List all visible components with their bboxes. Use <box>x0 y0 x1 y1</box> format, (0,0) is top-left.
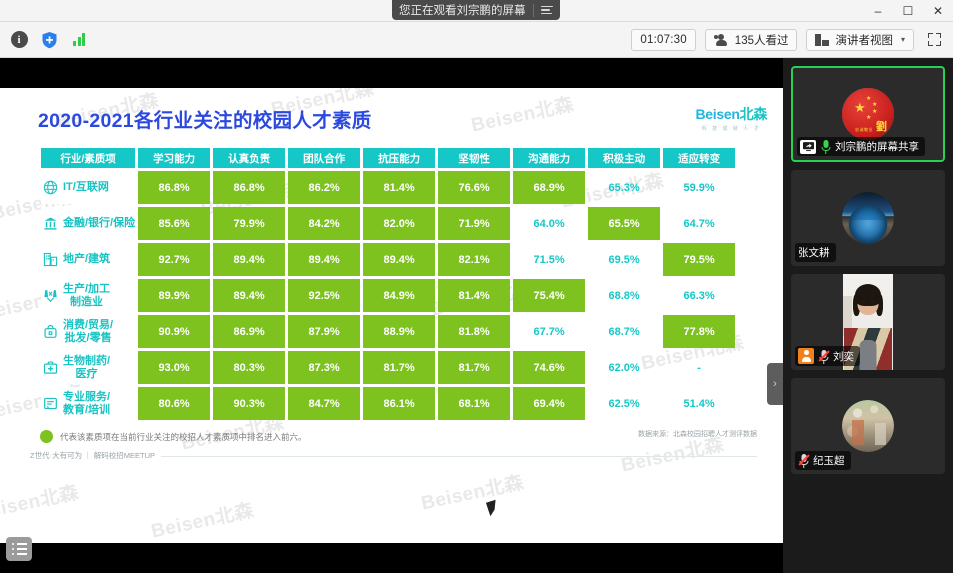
table-cell: 80.6% <box>138 387 210 420</box>
data-source-note: 数据来源：北森校园招聘人才测评数据 <box>638 429 757 439</box>
table-cell: 86.1% <box>363 387 435 420</box>
letterbox-bottom <box>0 543 783 573</box>
share-notice-pill: 您正在观看刘宗鹏的屏幕 <box>392 0 560 20</box>
table-cell: 62.5% <box>588 387 660 420</box>
people-icon <box>714 34 729 46</box>
table-cell: 65.3% <box>588 171 660 204</box>
row-label: 地产/建筑 <box>63 253 110 266</box>
table-cell: 68.8% <box>588 279 660 312</box>
building-icon <box>43 252 58 267</box>
meeting-window: 您正在观看刘宗鹏的屏幕 – ☐ ✕ i <box>0 0 953 573</box>
participant-label: 纪玉超 <box>795 451 851 470</box>
table-cell: 65.5% <box>588 207 660 240</box>
avatar <box>842 400 894 452</box>
table-cell: 89.4% <box>363 243 435 276</box>
table-cell: 87.9% <box>288 315 360 348</box>
table-cell: 86.2% <box>288 171 360 204</box>
table-cell: 68.9% <box>513 171 585 204</box>
screen-share-icon <box>800 140 816 154</box>
view-mode-label: 演讲者视图 <box>835 32 893 48</box>
table-row: 生物制药/医疗93.0%80.3%87.3%81.7%81.7%74.6%62.… <box>41 351 735 384</box>
table-cell: 59.9% <box>663 171 735 204</box>
participant-name: 张文耕 <box>798 245 830 260</box>
row-header: 生物制药/医疗 <box>41 351 135 384</box>
table-cell: 81.7% <box>363 351 435 384</box>
maximize-button[interactable]: ☐ <box>893 0 923 22</box>
participant-name: 纪玉超 <box>813 453 845 468</box>
table-cell: - <box>663 351 735 384</box>
mic-off-icon <box>798 453 809 468</box>
table-cell: 75.4% <box>513 279 585 312</box>
participant-tile[interactable]: 刘奕 <box>791 274 945 370</box>
meeting-timer: 01:07:30 <box>631 29 695 51</box>
table-cell: 92.7% <box>138 243 210 276</box>
table-cell: 82.1% <box>438 243 510 276</box>
logo-tagline: 科 技 成 就 人 才 <box>695 125 767 132</box>
table-cell: 90.9% <box>138 315 210 348</box>
column-header: 抗压能力 <box>363 148 435 168</box>
participant-tile[interactable]: ★★★★★忠诚敬业劉刘宗鹏的屏幕共享 <box>791 66 945 162</box>
window-controls: – ☐ ✕ <box>863 0 953 22</box>
table-cell: 92.5% <box>288 279 360 312</box>
table-body: IT/互联网86.8%86.8%86.2%81.4%76.6%68.9%65.3… <box>41 171 735 420</box>
table-cell: 86.8% <box>138 171 210 204</box>
row-header: 地产/建筑 <box>41 243 135 276</box>
table-cell: 51.4% <box>663 387 735 420</box>
hamburger-icon[interactable] <box>541 6 553 15</box>
table-cell: 81.4% <box>363 171 435 204</box>
table-cell: 84.2% <box>288 207 360 240</box>
table-cell: 84.9% <box>363 279 435 312</box>
table-cell: 89.4% <box>213 243 285 276</box>
info-icon: i <box>11 31 28 48</box>
viewer-count-label: 135人看过 <box>735 32 789 48</box>
participant-tile[interactable]: 张文耕 <box>791 170 945 266</box>
row-header: 生产/加工制造业 <box>41 279 135 312</box>
close-button[interactable]: ✕ <box>923 0 953 22</box>
shared-screen-stage: Beisen北森 Beisen北森 Beisen北森 Beisen北森 Beis… <box>0 58 783 573</box>
avatar: ★★★★★忠诚敬业劉 <box>842 88 894 140</box>
table-cell: 79.5% <box>663 243 735 276</box>
fullscreen-icon <box>928 33 941 46</box>
row-label: 消费/贸易/批发/零售 <box>63 319 113 344</box>
table-cell: 64.7% <box>663 207 735 240</box>
column-header: 沟通能力 <box>513 148 585 168</box>
slide-footer-label: Z世代·大有可为 ｜ 解码校招MEETUP <box>30 450 161 461</box>
table-cell: 84.7% <box>288 387 360 420</box>
table-cell: 64.0% <box>513 207 585 240</box>
pill-divider <box>533 4 534 17</box>
participant-name: 刘奕 <box>833 349 854 364</box>
column-header: 团队合作 <box>288 148 360 168</box>
table-cell: 81.7% <box>438 351 510 384</box>
document-icon <box>43 396 58 411</box>
table-cell: 76.6% <box>438 171 510 204</box>
legend-text: 代表该素质项在当前行业关注的校招人才素质项中排名进入前六。 <box>60 431 307 443</box>
column-header: 坚韧性 <box>438 148 510 168</box>
participant-tile[interactable]: 纪玉超 <box>791 378 945 474</box>
row-header: 消费/贸易/批发/零售 <box>41 315 135 348</box>
medical-icon <box>43 360 58 375</box>
row-label: IT/互联网 <box>63 181 109 194</box>
legend-swatch <box>40 430 53 443</box>
bank-icon <box>43 216 58 231</box>
globe-icon <box>43 180 58 195</box>
column-header: 积极主动 <box>588 148 660 168</box>
table-cell: 89.4% <box>213 279 285 312</box>
column-header: 行业/素质项 <box>41 148 135 168</box>
table-row: 专业服务/教育/培训80.6%90.3%84.7%86.1%68.1%69.4%… <box>41 387 735 420</box>
window-titlebar: 您正在观看刘宗鹏的屏幕 – ☐ ✕ <box>0 0 953 22</box>
table-cell: 69.5% <box>588 243 660 276</box>
table-row: IT/互联网86.8%86.8%86.2%81.4%76.6%68.9%65.3… <box>41 171 735 204</box>
participant-panel[interactable]: ★★★★★忠诚敬业劉刘宗鹏的屏幕共享张文耕刘奕纪玉超 <box>783 58 953 573</box>
share-notice-text: 您正在观看刘宗鹏的屏幕 <box>399 2 526 18</box>
row-label: 专业服务/教育/培训 <box>63 391 110 416</box>
table-cell: 67.7% <box>513 315 585 348</box>
table-cell: 62.0% <box>588 351 660 384</box>
row-label: 金融/银行/保险 <box>63 217 135 230</box>
table-cell: 81.8% <box>438 315 510 348</box>
table-cell: 69.4% <box>513 387 585 420</box>
mic-on-icon <box>820 139 831 154</box>
logo-main: Beisen <box>695 106 739 122</box>
host-badge-icon <box>798 348 814 364</box>
meeting-toolbar: i 01:07:30 135人看过 <box>0 22 953 58</box>
slide-list-icon[interactable] <box>6 537 32 561</box>
table-row: 生产/加工制造业89.9%89.4%92.5%84.9%81.4%75.4%68… <box>41 279 735 312</box>
participant-name: 刘宗鹏的屏幕共享 <box>835 139 919 154</box>
table-cell: 88.9% <box>363 315 435 348</box>
table-cell: 89.4% <box>288 243 360 276</box>
avatar <box>842 192 894 244</box>
table-cell: 80.3% <box>213 351 285 384</box>
chevron-down-icon: ▾ <box>901 35 905 44</box>
slide-title: 2020-2021各行业关注的校园人才素质 <box>38 104 372 133</box>
table-header-row: 行业/素质项 学习能力 认真负责 团队合作 抗压能力 坚韧性 沟通能力 积极主动… <box>41 148 735 168</box>
letterbox-top <box>0 58 783 88</box>
minimize-button[interactable]: – <box>863 0 893 22</box>
table-cell: 90.3% <box>213 387 285 420</box>
table-cell: 71.9% <box>438 207 510 240</box>
participant-label: 刘宗鹏的屏幕共享 <box>797 137 925 156</box>
security-button[interactable] <box>38 29 60 51</box>
table-cell: 68.1% <box>438 387 510 420</box>
column-header: 学习能力 <box>138 148 210 168</box>
mic-off-icon <box>818 349 829 364</box>
table-cell: 86.9% <box>213 315 285 348</box>
row-label: 生产/加工制造业 <box>63 283 110 308</box>
info-button[interactable]: i <box>8 29 30 51</box>
table-cell: 81.4% <box>438 279 510 312</box>
table-cell: 86.8% <box>213 171 285 204</box>
row-header: IT/互联网 <box>41 171 135 204</box>
table-cell: 71.5% <box>513 243 585 276</box>
bag-icon <box>43 324 58 339</box>
presentation-slide: Beisen北森 Beisen北森 Beisen北森 Beisen北森 Beis… <box>0 88 783 543</box>
layout-icon <box>815 34 829 46</box>
table-cell: 82.0% <box>363 207 435 240</box>
column-header: 认真负责 <box>213 148 285 168</box>
shield-icon <box>41 31 58 49</box>
signal-bars-icon <box>73 33 85 46</box>
slide-content: 2020-2021各行业关注的校园人才素质 Beisen北森 科 技 成 就 人… <box>0 88 783 543</box>
table-cell: 89.9% <box>138 279 210 312</box>
table-cell: 85.6% <box>138 207 210 240</box>
table-row: 消费/贸易/批发/零售90.9%86.9%87.9%88.9%81.8%67.7… <box>41 315 735 348</box>
table-cell: 79.9% <box>213 207 285 240</box>
logo-cn: 北森 <box>740 106 767 122</box>
legend: 代表该素质项在当前行业关注的校招人才素质项中排名进入前六。 <box>40 430 307 443</box>
participant-label: 张文耕 <box>795 243 836 262</box>
table-cell: 68.7% <box>588 315 660 348</box>
row-header: 金融/银行/保险 <box>41 207 135 240</box>
table-row: 金融/银行/保险85.6%79.9%84.2%82.0%71.9%64.0%65… <box>41 207 735 240</box>
chevron-right-icon: › <box>773 378 777 390</box>
table-cell: 87.3% <box>288 351 360 384</box>
panel-collapse-button[interactable]: › <box>767 363 783 405</box>
table-cell: 93.0% <box>138 351 210 384</box>
viewer-count-button[interactable]: 135人看过 <box>705 29 798 51</box>
network-status-button[interactable] <box>68 29 90 51</box>
fullscreen-button[interactable] <box>923 29 945 51</box>
column-header: 适应转变 <box>663 148 735 168</box>
beisen-logo: Beisen北森 科 技 成 就 人 才 <box>695 104 767 132</box>
row-header: 专业服务/教育/培训 <box>41 387 135 420</box>
table-cell: 77.8% <box>663 315 735 348</box>
table-row: 地产/建筑92.7%89.4%89.4%89.4%82.1%71.5%69.5%… <box>41 243 735 276</box>
factory-icon <box>43 288 58 303</box>
participant-label: 刘奕 <box>795 346 860 366</box>
view-mode-dropdown[interactable]: 演讲者视图 ▾ <box>806 29 914 51</box>
toolbar-right-group: 01:07:30 135人看过 演讲者视图 ▾ <box>631 29 945 51</box>
table-cell: 74.6% <box>513 351 585 384</box>
row-label: 生物制药/医疗 <box>63 355 110 380</box>
toolbar-left-group: i <box>8 29 90 51</box>
table-cell: 66.3% <box>663 279 735 312</box>
competency-table: 行业/素质项 学习能力 认真负责 团队合作 抗压能力 坚韧性 沟通能力 积极主动… <box>38 145 738 423</box>
